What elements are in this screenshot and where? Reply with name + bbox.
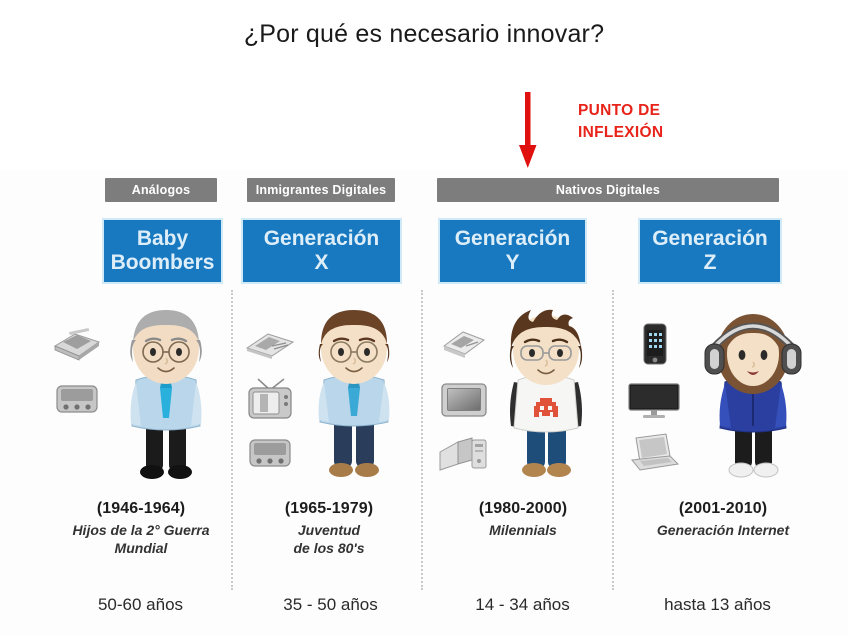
generation-column-generacion-y	[432, 300, 610, 490]
generation-years: (1980-2000)	[437, 500, 609, 518]
generation-age-range-generacion-y: 14 - 34 años	[430, 595, 615, 615]
laptop-icon	[626, 430, 682, 474]
generation-name: Generación Y	[455, 227, 571, 274]
crt-tv-antenna-icon	[242, 376, 298, 420]
generation-description-line2: de los 80's	[293, 540, 364, 556]
generation-footnote-generacion-z: (2001-2010) Generación Internet	[628, 500, 818, 540]
smartphone-icon	[626, 322, 682, 366]
generation-name-line1: Baby	[137, 227, 188, 250]
generations-infographic: Análogos Inmigrantes Digitales Nativos D…	[0, 170, 848, 636]
generation-column-baby-boombers	[45, 300, 230, 490]
generation-description-line1: Generación Internet	[657, 522, 789, 538]
generation-column-generacion-z	[622, 300, 817, 490]
old-radio-icon	[242, 430, 298, 474]
page-title: ¿Por qué es necesario innovar?	[0, 20, 848, 49]
man-brown-hair-glasses-tie-figure	[298, 300, 410, 490]
generation-name: Generación Z	[652, 227, 768, 274]
inflection-annotation: PUNTO DE INFLEXIÓN	[493, 92, 723, 177]
magazine-icon	[436, 322, 492, 366]
generation-description: Hijos de la 2° Guerra Mundial	[55, 522, 227, 558]
inflection-label-line1: PUNTO DE	[578, 100, 728, 122]
generation-name: Baby Boombers	[111, 227, 215, 274]
generation-years: (1965-1979)	[243, 500, 415, 518]
generation-footnote-baby-boombers: (1946-1964) Hijos de la 2° Guerra Mundia…	[55, 500, 227, 558]
generation-description-line1: Juventud	[298, 522, 360, 538]
inflection-label: PUNTO DE INFLEXIÓN	[578, 100, 728, 144]
generation-years: (1946-1964)	[55, 500, 227, 518]
flat-screen-tv-icon	[626, 376, 682, 420]
desktop-computer-icon	[436, 430, 492, 474]
crt-monitor-icon	[436, 376, 492, 420]
generation-description-line1: Hijos de la 2° Guerra	[72, 522, 209, 538]
category-bar-inmigrantes-digitales: Inmigrantes Digitales	[247, 178, 395, 202]
device-stack	[49, 322, 105, 430]
down-arrow-icon	[515, 92, 541, 170]
generation-name-line2: Y	[505, 251, 519, 274]
young-man-spiky-hair-tshirt-figure	[490, 300, 602, 490]
generation-name-line1: Generación	[455, 227, 571, 250]
newspaper-icon	[242, 322, 298, 366]
column-divider	[612, 290, 614, 590]
older-man-gray-hair-glasses-figure	[110, 300, 222, 490]
generation-description: Generación Internet	[628, 522, 818, 540]
generation-name-line2: X	[314, 251, 328, 274]
generation-description: Juventud de los 80's	[243, 522, 415, 558]
column-divider	[231, 290, 233, 590]
generation-description-line1: Milennials	[489, 522, 557, 538]
generation-age-range-generacion-z: hasta 13 años	[620, 595, 815, 615]
device-stack	[242, 322, 298, 484]
generation-description: Milennials	[437, 522, 609, 540]
generation-description-line2: Mundial	[115, 540, 168, 556]
generation-name: Generación X	[264, 227, 380, 274]
generation-years: (2001-2010)	[628, 500, 818, 518]
generation-age-range-generacion-x: 35 - 50 años	[238, 595, 423, 615]
device-stack	[626, 322, 682, 484]
girl-headphones-hoodie-figure	[697, 300, 809, 490]
column-divider	[421, 290, 423, 590]
generation-box-generacion-z: Generación Z	[640, 220, 780, 282]
generation-name-line1: Generación	[652, 227, 768, 250]
old-radio-icon	[49, 376, 105, 420]
generation-box-generacion-x: Generación X	[243, 220, 400, 282]
device-stack	[436, 322, 492, 484]
generation-name-line2: Z	[704, 251, 717, 274]
category-bar-nativos-digitales: Nativos Digitales	[437, 178, 779, 202]
generation-box-generacion-y: Generación Y	[440, 220, 585, 282]
generation-box-baby-boombers: Baby Boombers	[104, 220, 221, 282]
inflection-label-line2: INFLEXIÓN	[578, 122, 728, 144]
category-bar-analogos: Análogos	[105, 178, 217, 202]
typewriter-icon	[49, 322, 105, 366]
generation-footnote-generacion-y: (1980-2000) Milennials	[437, 500, 609, 540]
generation-name-line1: Generación	[264, 227, 380, 250]
generation-age-range-baby-boombers: 50-60 años	[48, 595, 233, 615]
generation-name-line2: Boombers	[111, 251, 215, 274]
generation-footnote-generacion-x: (1965-1979) Juventud de los 80's	[243, 500, 415, 558]
generation-column-generacion-x	[238, 300, 418, 490]
